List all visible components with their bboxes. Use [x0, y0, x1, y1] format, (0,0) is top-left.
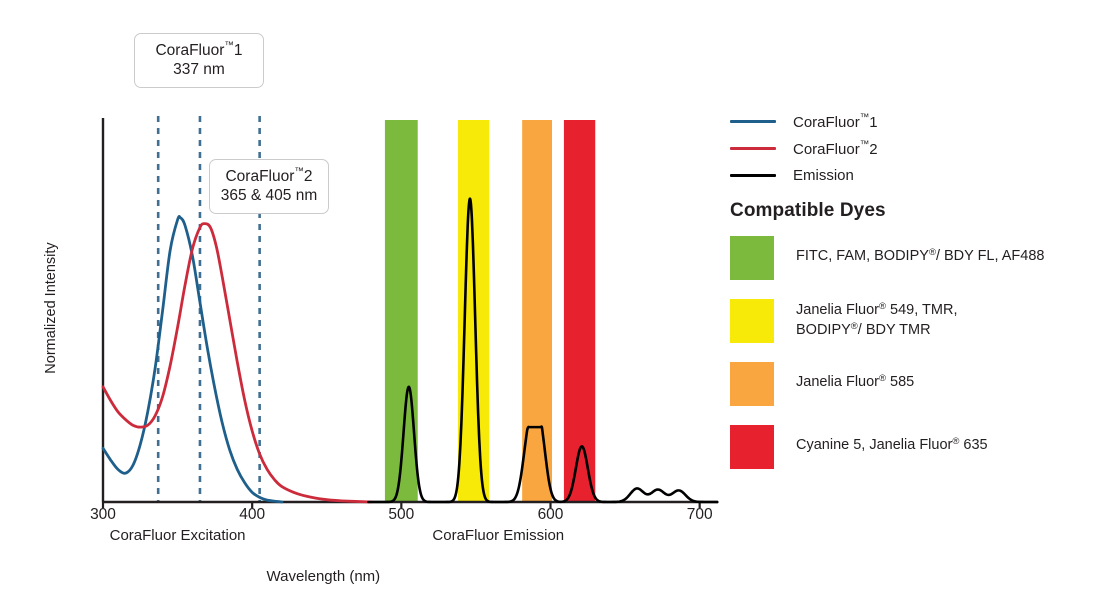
dye-item-green: FITC, FAM, BODIPY®/ BDY FL, AF488 — [730, 236, 1100, 280]
fluorescence-spectra-figure: CoraFluor™1 337 nm CoraFluor™2 365 & 405… — [0, 0, 1110, 612]
cora-fluor-2-marker-value: 365 & 405 nm — [220, 187, 318, 206]
cora-fluor-1-marker-title: CoraFluor™1 — [145, 40, 253, 61]
legend-line-swatch — [730, 147, 776, 150]
dye-item-label: FITC, FAM, BODIPY®/ BDY FL, AF488 — [796, 236, 1044, 267]
dye-item-orange: Janelia Fluor® 585 — [730, 362, 1100, 406]
emission-section-label: CoraFluor Emission — [388, 527, 608, 544]
legend-item-label: CoraFluor™2 — [793, 139, 878, 158]
legend-item-label: CoraFluor™1 — [793, 112, 878, 131]
cora-fluor-1-marker-callout: CoraFluor™1 337 nm — [134, 33, 264, 88]
y-axis-title: Normalized Intensity — [43, 228, 59, 388]
x-axis-tick-500: 500 — [371, 506, 431, 524]
curve-corafluor1 — [103, 216, 282, 502]
legend-item-corafluor-1: CoraFluor™1 — [730, 108, 1090, 135]
dye-item-label: Cyanine 5, Janelia Fluor® 635 — [796, 425, 988, 456]
x-axis-tick-400: 400 — [222, 506, 282, 524]
legend-line-swatch — [730, 174, 776, 177]
legend-item-label: Emission — [793, 167, 854, 184]
cora-fluor-2-marker-title: CoraFluor™2 — [220, 166, 318, 187]
x-axis-tick-700: 700 — [670, 506, 730, 524]
red-band — [564, 120, 595, 502]
legend-item-emission: Emission — [730, 162, 1090, 189]
dye-color-swatch — [730, 299, 774, 343]
curve-corafluor2 — [103, 224, 372, 502]
x-axis-title: Wavelength (nm) — [203, 568, 443, 585]
x-axis-tick-300: 300 — [73, 506, 133, 524]
series-legend: CoraFluor™1 CoraFluor™2 Emission — [730, 108, 1090, 189]
dye-item-label: Janelia Fluor® 585 — [796, 362, 914, 393]
orange-band — [522, 120, 552, 502]
excitation-section-label: CoraFluor Excitation — [68, 527, 288, 544]
dye-color-swatch — [730, 236, 774, 280]
dye-item-red: Cyanine 5, Janelia Fluor® 635 — [730, 425, 1100, 469]
cora-fluor-2-marker-callout: CoraFluor™2 365 & 405 nm — [209, 159, 329, 214]
dye-item-yellow: Janelia Fluor® 549, TMR,BODIPY®/ BDY TMR — [730, 299, 1100, 343]
legend-line-swatch — [730, 120, 776, 123]
compatible-dyes-list: FITC, FAM, BODIPY®/ BDY FL, AF488 Janeli… — [730, 236, 1100, 488]
compatible-dyes-heading: Compatible Dyes — [730, 200, 886, 222]
x-axis-tick-600: 600 — [521, 506, 581, 524]
legend-item-corafluor-2: CoraFluor™2 — [730, 135, 1090, 162]
dye-item-label: Janelia Fluor® 549, TMR,BODIPY®/ BDY TMR — [796, 299, 957, 340]
dye-color-swatch — [730, 425, 774, 469]
dye-color-swatch — [730, 362, 774, 406]
cora-fluor-1-marker-value: 337 nm — [145, 61, 253, 80]
